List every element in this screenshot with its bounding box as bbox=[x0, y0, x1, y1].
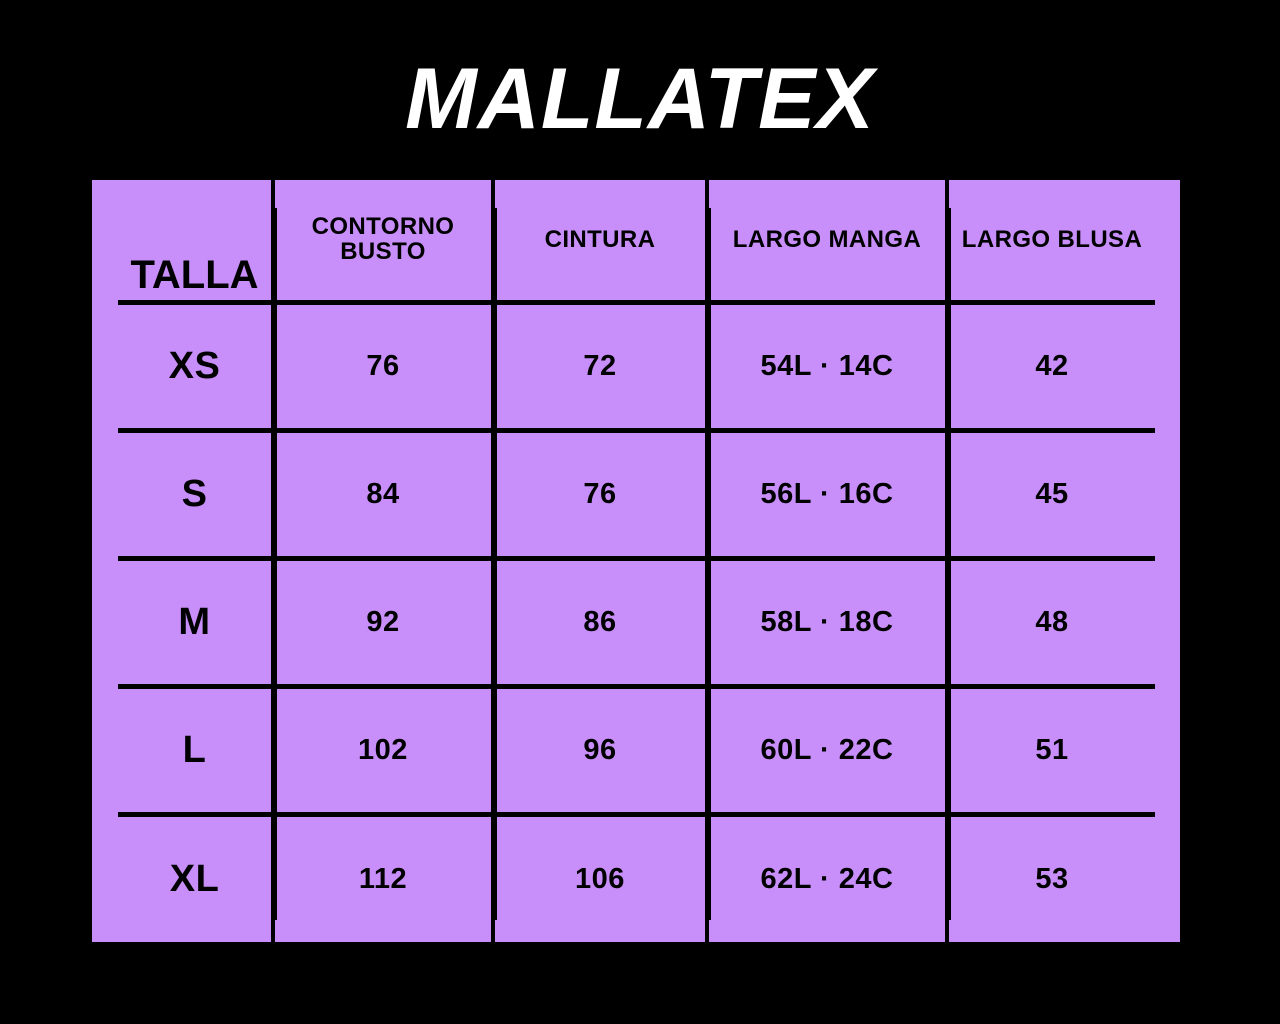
cell-contorno-busto: 84 bbox=[273, 430, 493, 558]
table-row: XL 112 106 62L · 24C 53 bbox=[118, 814, 1155, 942]
cell-talla: L bbox=[118, 686, 273, 814]
cell-largo-blusa: 45 bbox=[947, 430, 1155, 558]
column-header-largo-manga: LARGO MANGA bbox=[707, 180, 947, 302]
cell-talla: M bbox=[118, 558, 273, 686]
table-body: XS 76 72 54L · 14C 42 S 84 76 56L · 16C … bbox=[118, 302, 1155, 942]
cell-talla: XL bbox=[118, 814, 273, 942]
cell-contorno-busto: 76 bbox=[273, 302, 493, 430]
table-row: S 84 76 56L · 16C 45 bbox=[118, 430, 1155, 558]
table-row: M 92 86 58L · 18C 48 bbox=[118, 558, 1155, 686]
size-chart-canvas: MALLATEX TALLA CONTORNO BUSTO CINTURA LA… bbox=[0, 0, 1280, 1024]
column-header-largo-blusa: LARGO BLUSA bbox=[947, 180, 1155, 302]
table-row: L 102 96 60L · 22C 51 bbox=[118, 686, 1155, 814]
cell-cintura: 96 bbox=[493, 686, 707, 814]
cell-largo-manga: 56L · 16C bbox=[707, 430, 947, 558]
cell-largo-blusa: 42 bbox=[947, 302, 1155, 430]
cell-cintura: 72 bbox=[493, 302, 707, 430]
cell-largo-manga: 62L · 24C bbox=[707, 814, 947, 942]
column-header-talla: TALLA bbox=[118, 180, 273, 302]
cell-cintura: 86 bbox=[493, 558, 707, 686]
cell-largo-blusa: 51 bbox=[947, 686, 1155, 814]
column-header-contorno-busto: CONTORNO BUSTO bbox=[273, 180, 493, 302]
cell-contorno-busto: 102 bbox=[273, 686, 493, 814]
cell-largo-blusa: 48 bbox=[947, 558, 1155, 686]
brand-title: MALLATEX bbox=[0, 56, 1280, 142]
cell-largo-manga: 58L · 18C bbox=[707, 558, 947, 686]
cell-contorno-busto: 112 bbox=[273, 814, 493, 942]
size-chart-table: TALLA CONTORNO BUSTO CINTURA LARGO MANGA… bbox=[118, 180, 1155, 942]
cell-talla: XS bbox=[118, 302, 273, 430]
size-chart-panel: TALLA CONTORNO BUSTO CINTURA LARGO MANGA… bbox=[92, 180, 1180, 942]
table-header-row: TALLA CONTORNO BUSTO CINTURA LARGO MANGA… bbox=[118, 180, 1155, 302]
cell-cintura: 106 bbox=[493, 814, 707, 942]
cell-largo-manga: 54L · 14C bbox=[707, 302, 947, 430]
column-header-cintura: CINTURA bbox=[493, 180, 707, 302]
table-header: TALLA CONTORNO BUSTO CINTURA LARGO MANGA… bbox=[118, 180, 1155, 302]
cell-largo-manga: 60L · 22C bbox=[707, 686, 947, 814]
cell-contorno-busto: 92 bbox=[273, 558, 493, 686]
table-row: XS 76 72 54L · 14C 42 bbox=[118, 302, 1155, 430]
cell-talla: S bbox=[118, 430, 273, 558]
cell-cintura: 76 bbox=[493, 430, 707, 558]
cell-largo-blusa: 53 bbox=[947, 814, 1155, 942]
